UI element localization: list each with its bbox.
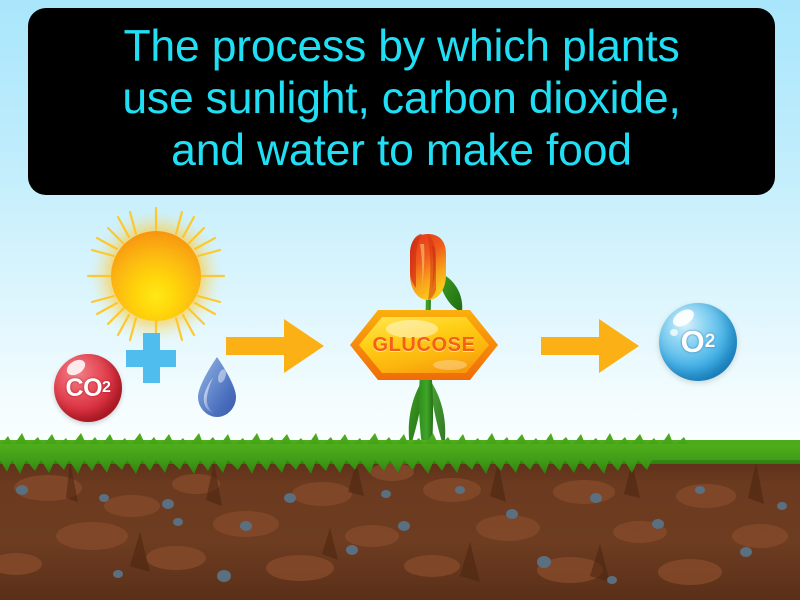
o2-label-text: O (681, 324, 705, 360)
co2-label: CO2 (54, 354, 122, 422)
co2-subscript: 2 (102, 379, 110, 397)
photosynthesis-diagram: CO2 (0, 0, 800, 600)
arrow-glucose-to-oxygen-icon (541, 317, 639, 375)
ground-layer (0, 432, 800, 600)
sun-icon (85, 205, 227, 347)
sun-core (111, 231, 201, 321)
co2-molecule-icon: CO2 (54, 354, 122, 422)
co2-label-text: CO (66, 374, 103, 403)
caption-text: The process by which plants use sunlight… (122, 21, 680, 177)
oxygen-molecule-icon: O2 (659, 303, 737, 381)
o2-subscript: 2 (705, 331, 716, 353)
o2-label: O2 (659, 303, 737, 381)
glucose-hexagon-icon (348, 308, 500, 382)
arrow-reactants-to-glucose-icon (226, 317, 324, 375)
caption-box: The process by which plants use sunlight… (28, 8, 775, 195)
plus-icon (126, 333, 176, 383)
plus-bar-vertical (143, 333, 160, 383)
